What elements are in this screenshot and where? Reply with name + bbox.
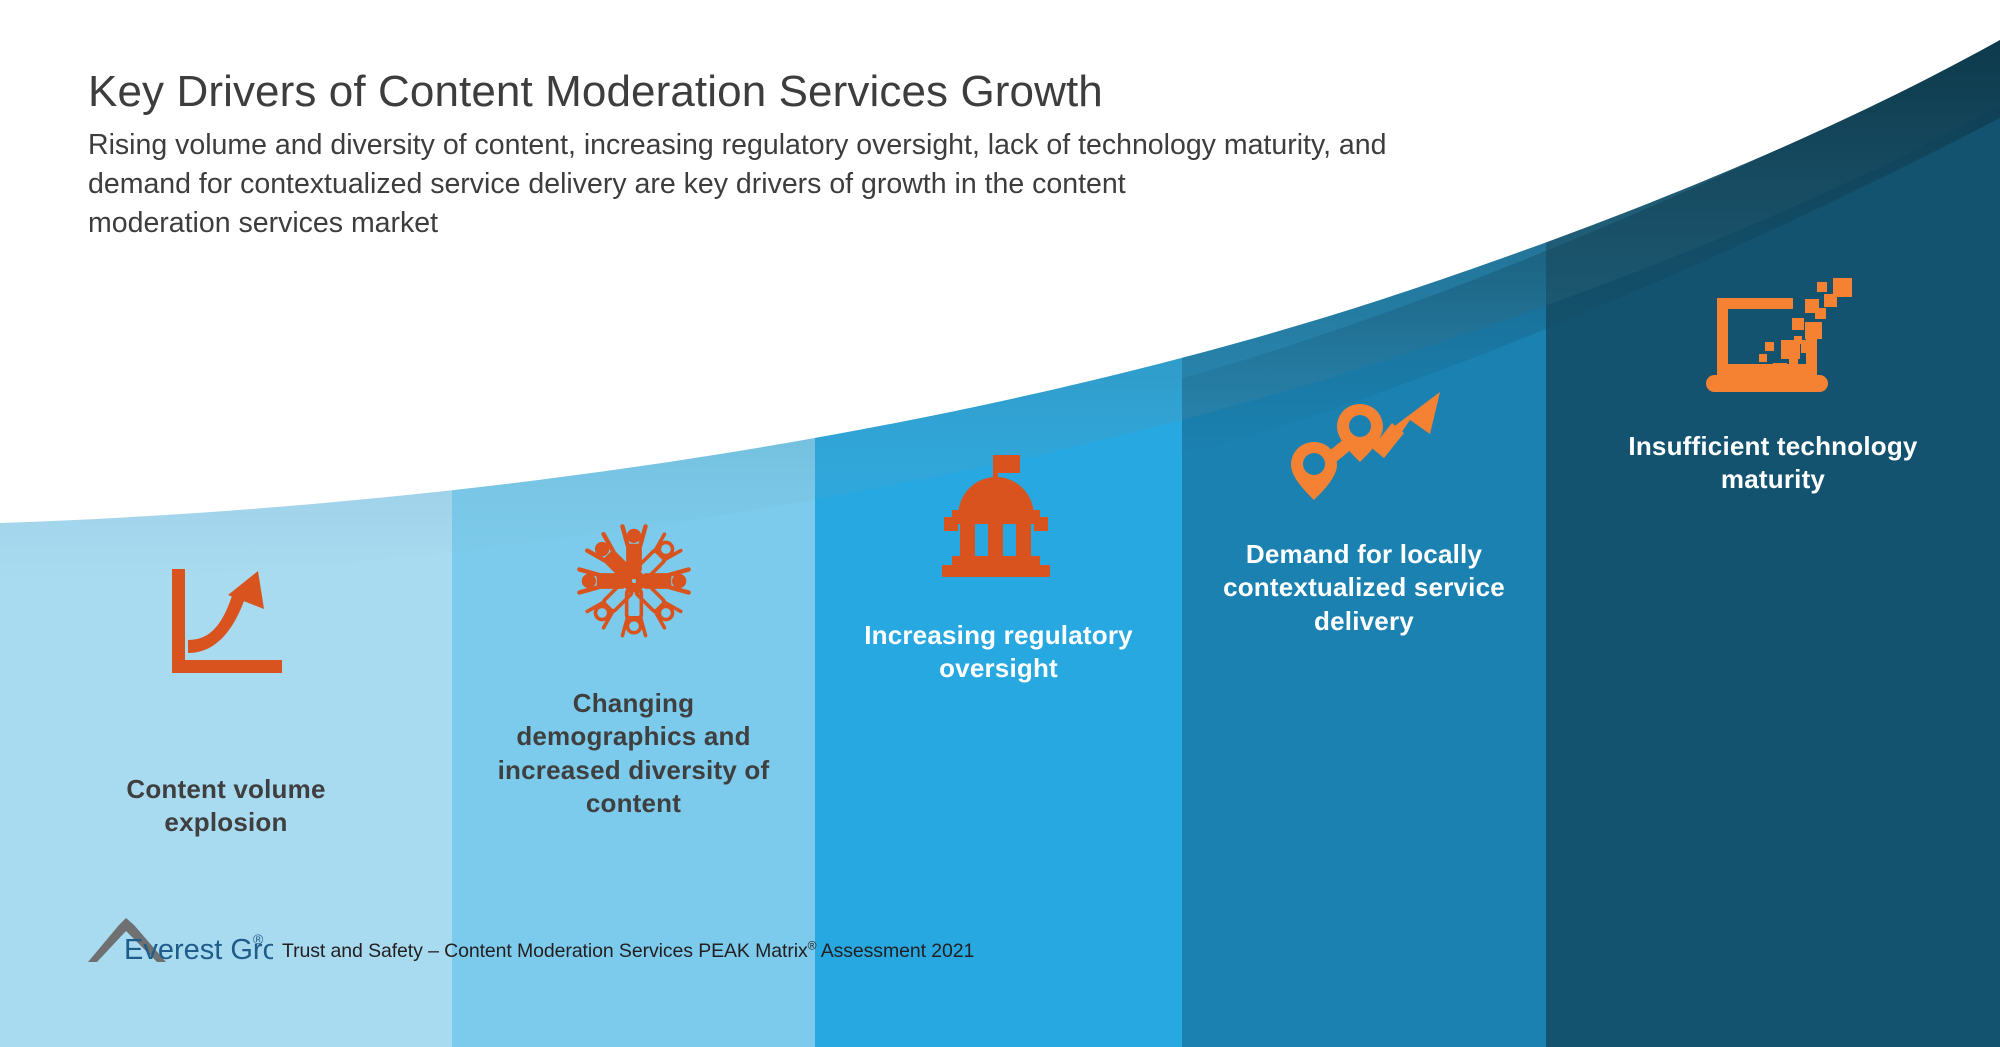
driver-locally-contextualized-delivery: Demand for locally contextualized servic… [1182,390,1546,638]
driver-content-volume-explosion: Content volume explosion [16,565,436,840]
government-building-icon [930,455,1068,583]
page-subtitle-line-3: moderation services market [88,204,1628,243]
page-subtitle-line-1: Rising volume and diversity of content, … [88,126,1628,165]
page-title: Key Drivers of Content Moderation Servic… [88,66,1648,118]
driver-regulatory-oversight: Increasing regulatory oversight [815,455,1182,686]
people-circle-diversity-icon [571,518,697,644]
footer: Everest Group ® Trust and Safety – Conte… [88,918,974,966]
footer-note-suffix: Assessment 2021 [816,940,974,962]
slide-canvas: Key Drivers of Content Moderation Servic… [0,0,2000,1047]
logo-wordmark: Everest Group [124,934,273,966]
driver-changing-demographics: Changing demographics and increased dive… [452,518,815,820]
driver-label-changing-demographics: Changing demographics and increased dive… [491,687,776,820]
everest-peak-logo: Everest Group ® [88,918,273,966]
laptop-pixels-icon [1693,278,1853,400]
driver-label-insufficient-technology-maturity: Insufficient technology maturity [1593,430,1953,497]
driver-insufficient-technology-maturity: Insufficient technology maturity [1546,278,2000,497]
page-subtitle-line-2: demand for contextualized service delive… [88,165,1628,204]
footer-note: Trust and Safety – Content Moderation Se… [282,940,974,966]
driver-label-regulatory-oversight: Increasing regulatory oversight [844,619,1154,686]
logo-registered-mark: ® [253,931,264,947]
growth-chart-icon [166,565,286,685]
driver-label-content-volume-explosion: Content volume explosion [76,773,376,840]
page-subtitle: Rising volume and diversity of content, … [88,126,1628,243]
footer-note-prefix: Trust and Safety – Content Moderation Se… [282,940,808,962]
header-block: Key Drivers of Content Moderation Servic… [88,66,1648,243]
driver-label-locally-contextualized-delivery: Demand for locally contextualized servic… [1204,538,1524,638]
location-pins-arrow-icon [1280,390,1448,510]
